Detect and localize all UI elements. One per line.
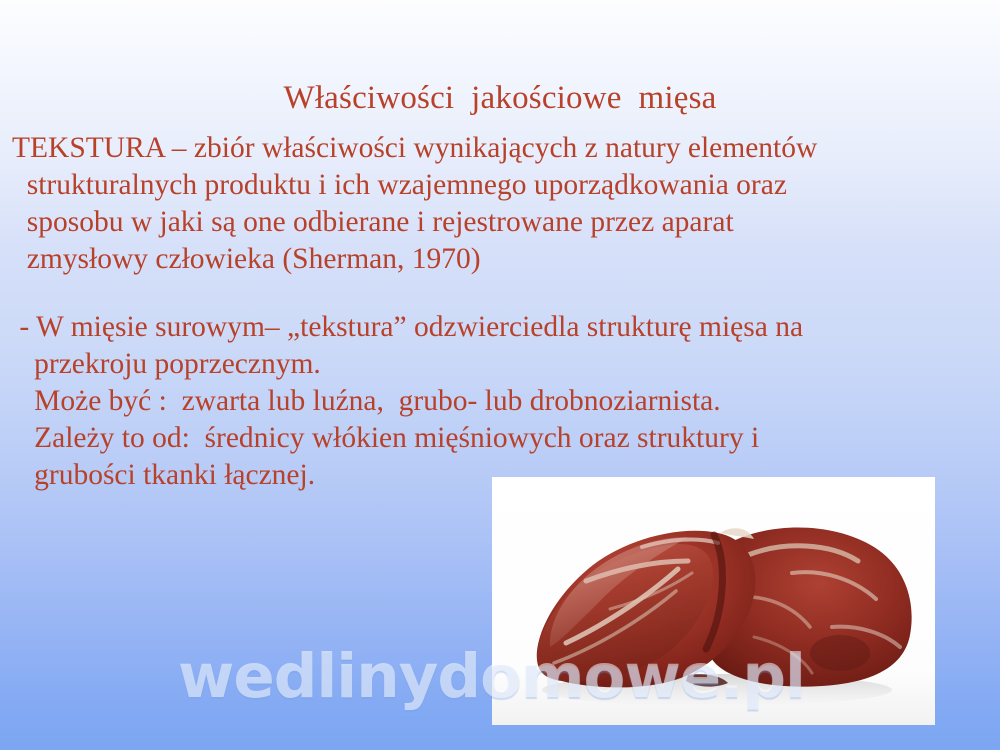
paragraph-line: TEKSTURA – zbiór właściwości wynikającyc… — [12, 130, 952, 167]
paragraph-line: zmysłowy człowieka (Sherman, 1970) — [12, 241, 952, 278]
paragraph-raw-meat-texture: - W mięsie surowym– „tekstura” odzwierci… — [12, 309, 952, 494]
paragraph-line: Zależy to od: średnicy włókien mięśniowy… — [12, 420, 952, 457]
paragraph-line: Może być : zwarta lub luźna, grubo- lub … — [12, 383, 952, 420]
paragraph-line: - W mięsie surowym– „tekstura” odzwierci… — [12, 309, 952, 346]
paragraph-line: strukturalnych produktu i ich wzajemnego… — [12, 167, 952, 204]
meat-photo-frame — [492, 477, 935, 725]
raw-beef-meat-photo — [492, 477, 935, 725]
paragraph-tekstura-definition: TEKSTURA – zbiór właściwości wynikającyc… — [12, 130, 952, 278]
presentation-slide: Właściwości jakościowe mięsa TEKSTURA – … — [0, 0, 1000, 750]
slide-title: Właściwości jakościowe mięsa — [0, 78, 1000, 118]
paragraph-line: przekroju poprzecznym. — [12, 346, 952, 383]
paragraph-line: sposobu w jaki są one odbierane i rejest… — [12, 204, 952, 241]
